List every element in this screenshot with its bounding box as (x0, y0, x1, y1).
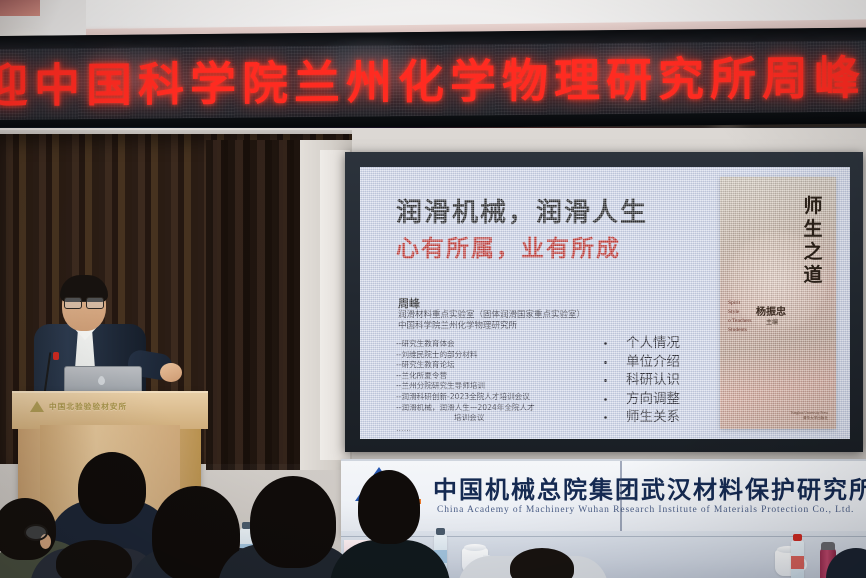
slide-author: 周峰 (398, 295, 420, 311)
audience-glasses (24, 524, 48, 541)
slide-agenda-bullets: 个人情况 单位介绍 科研认识 方向调整 师生关系 (600, 335, 680, 428)
led-banner-text: 迎中国科学院兰州化学物理研究所周峰 (0, 42, 866, 117)
slide-title: 润滑机械，润滑人生 (396, 192, 648, 229)
book-title: 师生之道 (802, 195, 824, 287)
slide-subtitle: 心有所属，业有所成 (396, 229, 621, 263)
audience-head-3 (56, 540, 132, 578)
book-english-text: Spirit Style o Teachers Students (728, 299, 752, 335)
speaker-hand (160, 363, 182, 382)
slide-source-list: --研究生教育体会 --刘维民院士的部分材料 --研究生教育论坛 --兰化所夏令… (396, 339, 535, 434)
speaker-glasses (64, 297, 104, 308)
source-item: --润滑科研创新-2023全院人才培训会议 (396, 392, 535, 403)
slide-affiliation: 润滑材料重点实验室（固体润滑国家重点实验室） 中国科学院兰州化学物理研究所 (398, 310, 585, 332)
water-bottle-2 (791, 540, 804, 578)
source-item: --刘维民院士的部分材料 (396, 350, 535, 361)
ceiling-red-reflection (0, 0, 40, 16)
audience-head-1 (78, 452, 146, 524)
book-role: 主编 (766, 317, 778, 326)
book-author: 杨振忠 (756, 303, 786, 318)
source-item: --研究生教育论坛 (396, 360, 535, 371)
audience-head-6 (358, 470, 420, 544)
banner-english-title: China Academy of Machinery Wuhan Researc… (437, 505, 854, 515)
podium-plate-text: 中国北验验验材安所 (49, 401, 127, 412)
organization-banner: CAM 中国机械总院集团武汉材料保护研究所有限公司 China Academy … (341, 459, 866, 536)
list-item: 单位介绍 (600, 354, 680, 372)
projection-screen: 润滑机械，润滑人生 心有所属，业有所成 周峰 润滑材料重点实验室（固体润滑国家重… (360, 167, 850, 439)
list-item: 科研认识 (600, 372, 680, 390)
source-item: …… (396, 424, 535, 435)
list-item: 师生关系 (600, 409, 680, 427)
source-item: --润滑机械，润滑人生—2024年全院人才 (396, 403, 535, 414)
affiliation-line-1: 润滑材料重点实验室（固体润滑国家重点实验室） (398, 310, 585, 321)
source-item: --研究生教育体会 (396, 339, 535, 350)
led-banner: 迎中国科学院兰州化学物理研究所周峰 (0, 28, 866, 132)
table-edge-line (341, 536, 866, 537)
lapel-pin (53, 352, 59, 360)
presentation-slide: 润滑机械，润滑人生 心有所属，业有所成 周峰 润滑材料重点实验室（固体润滑国家重… (360, 167, 850, 439)
book-publisher: Tsinghua University Press 清华大学出版社 (790, 411, 828, 421)
banner-panel-seam (620, 461, 622, 533)
affiliation-line-2: 中国科学院兰州化学物理研究所 (398, 321, 585, 332)
source-item: 培训会议 (396, 413, 535, 424)
banner-chinese-title: 中国机械总院集团武汉材料保护研究所有限公司 (433, 470, 866, 505)
source-item: --兰州分院研究生导师培训 (396, 381, 535, 392)
podium-nameplate: 中国北验验验材安所 (30, 398, 155, 414)
book-cover-image: Spirit Style o Teachers Students 师生之道 杨振… (720, 177, 836, 429)
laptop-logo-icon (98, 377, 105, 385)
source-item: --兰化所夏令营 (396, 371, 535, 382)
podium-logo-icon (30, 400, 45, 412)
conference-photo: 迎中国科学院兰州化学物理研究所周峰 润滑机械，润滑人生 心有所属，业有所成 周峰… (0, 0, 866, 578)
list-item: 个人情况 (600, 335, 680, 353)
audience-head-5 (250, 476, 336, 568)
list-item: 方向调整 (600, 391, 680, 409)
